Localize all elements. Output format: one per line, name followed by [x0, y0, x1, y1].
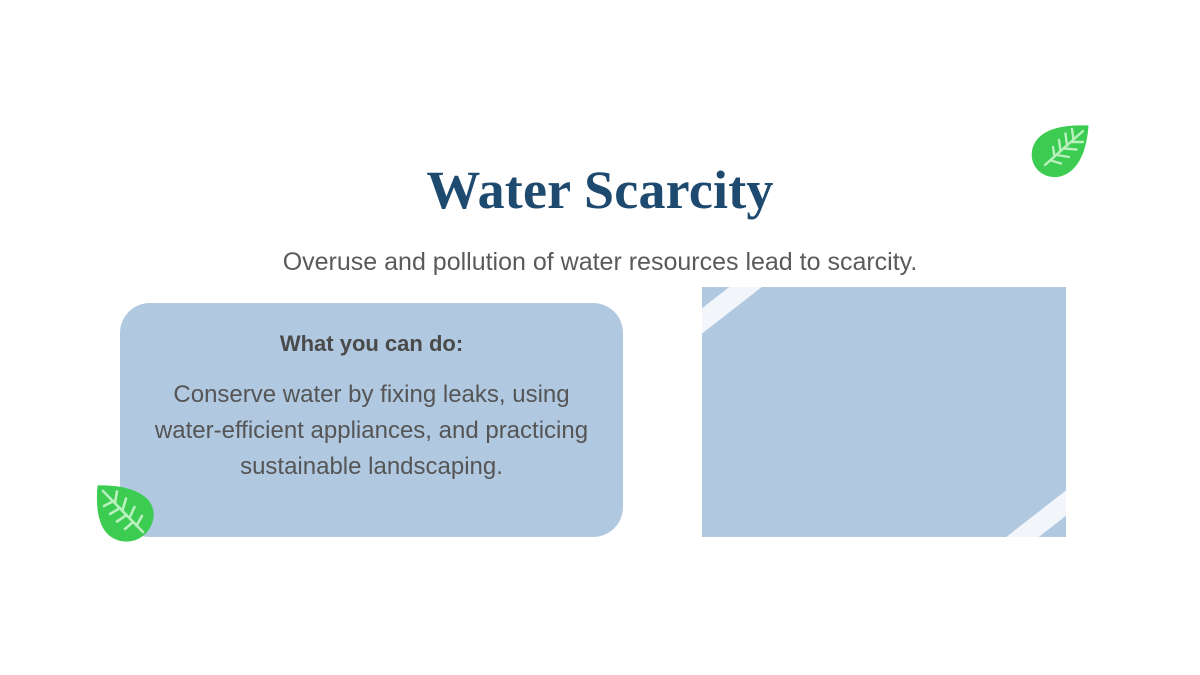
leaf-icon-top-right [1029, 124, 1091, 180]
tip-card: What you can do: Conserve water by fixin… [120, 303, 623, 537]
slide-canvas: Water Scarcity Overuse and pollution of … [0, 0, 1200, 675]
tape-stripe-top-left-icon [702, 287, 778, 347]
tip-card-heading: What you can do: [144, 329, 599, 359]
tip-card-body: Conserve water by fixing leaks, using wa… [144, 377, 599, 485]
leaf-icon-bottom-left [94, 482, 162, 544]
tape-stripe-bottom-right-icon [990, 477, 1066, 537]
image-placeholder [702, 287, 1066, 537]
page-subtitle: Overuse and pollution of water resources… [0, 244, 1200, 280]
page-title: Water Scarcity [0, 155, 1200, 225]
